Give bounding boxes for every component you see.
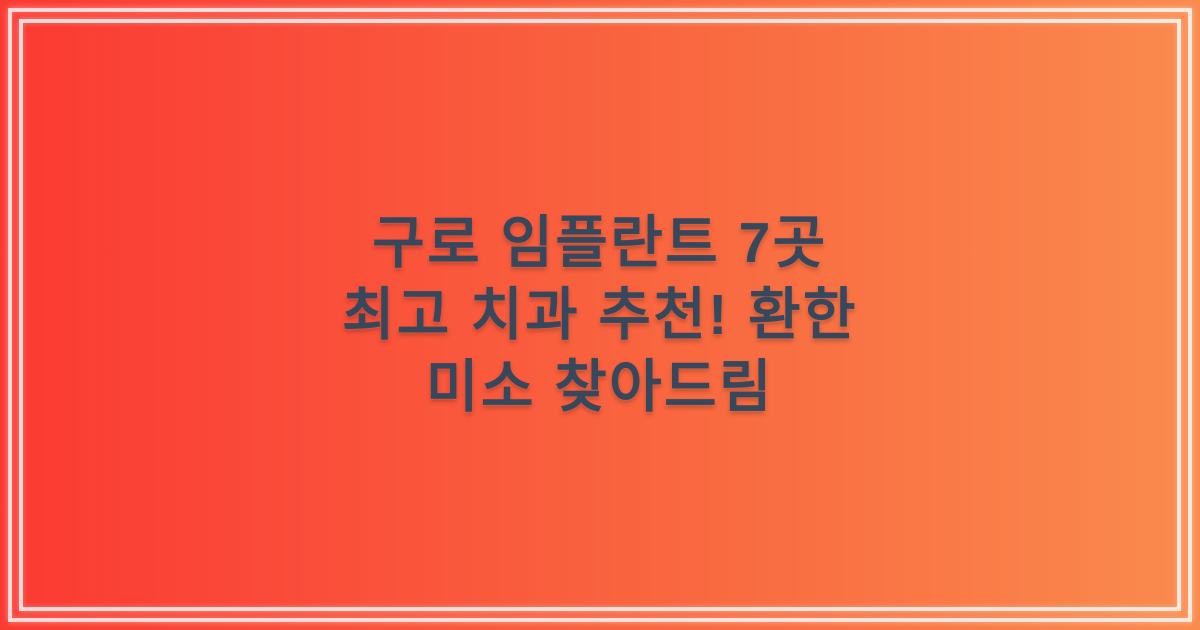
title-line-1: 구로 임플란트 7곳	[342, 207, 858, 279]
thumbnail-card: 구로 임플란트 7곳 최고 치과 추천! 환한 미소 찾아드림	[0, 0, 1200, 630]
title-container: 구로 임플란트 7곳 최고 치과 추천! 환한 미소 찾아드림	[0, 0, 1200, 630]
title-line-2: 최고 치과 추천! 환한	[342, 279, 858, 351]
page-title: 구로 임플란트 7곳 최고 치과 추천! 환한 미소 찾아드림	[342, 207, 858, 423]
title-line-3: 미소 찾아드림	[342, 351, 858, 423]
